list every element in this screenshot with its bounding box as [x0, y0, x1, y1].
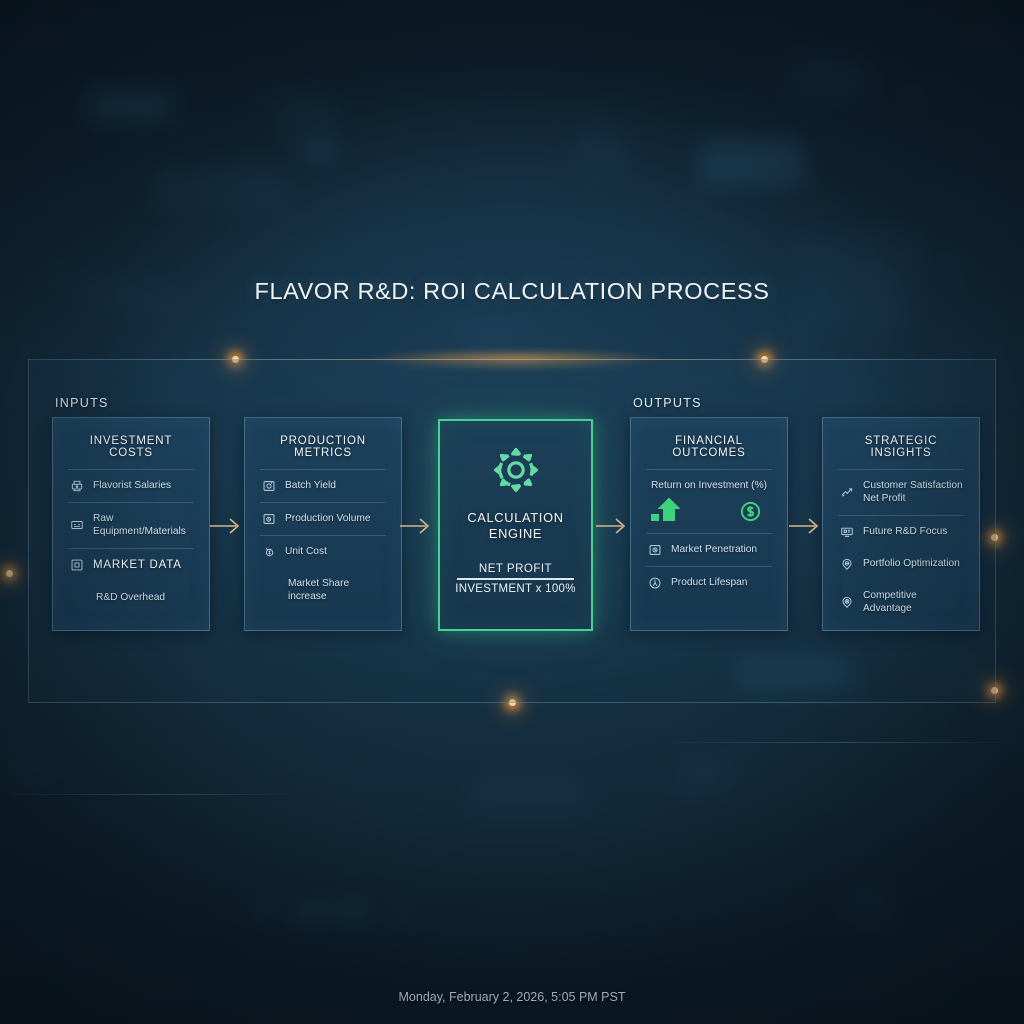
vignette-overlay — [0, 0, 1024, 1024]
